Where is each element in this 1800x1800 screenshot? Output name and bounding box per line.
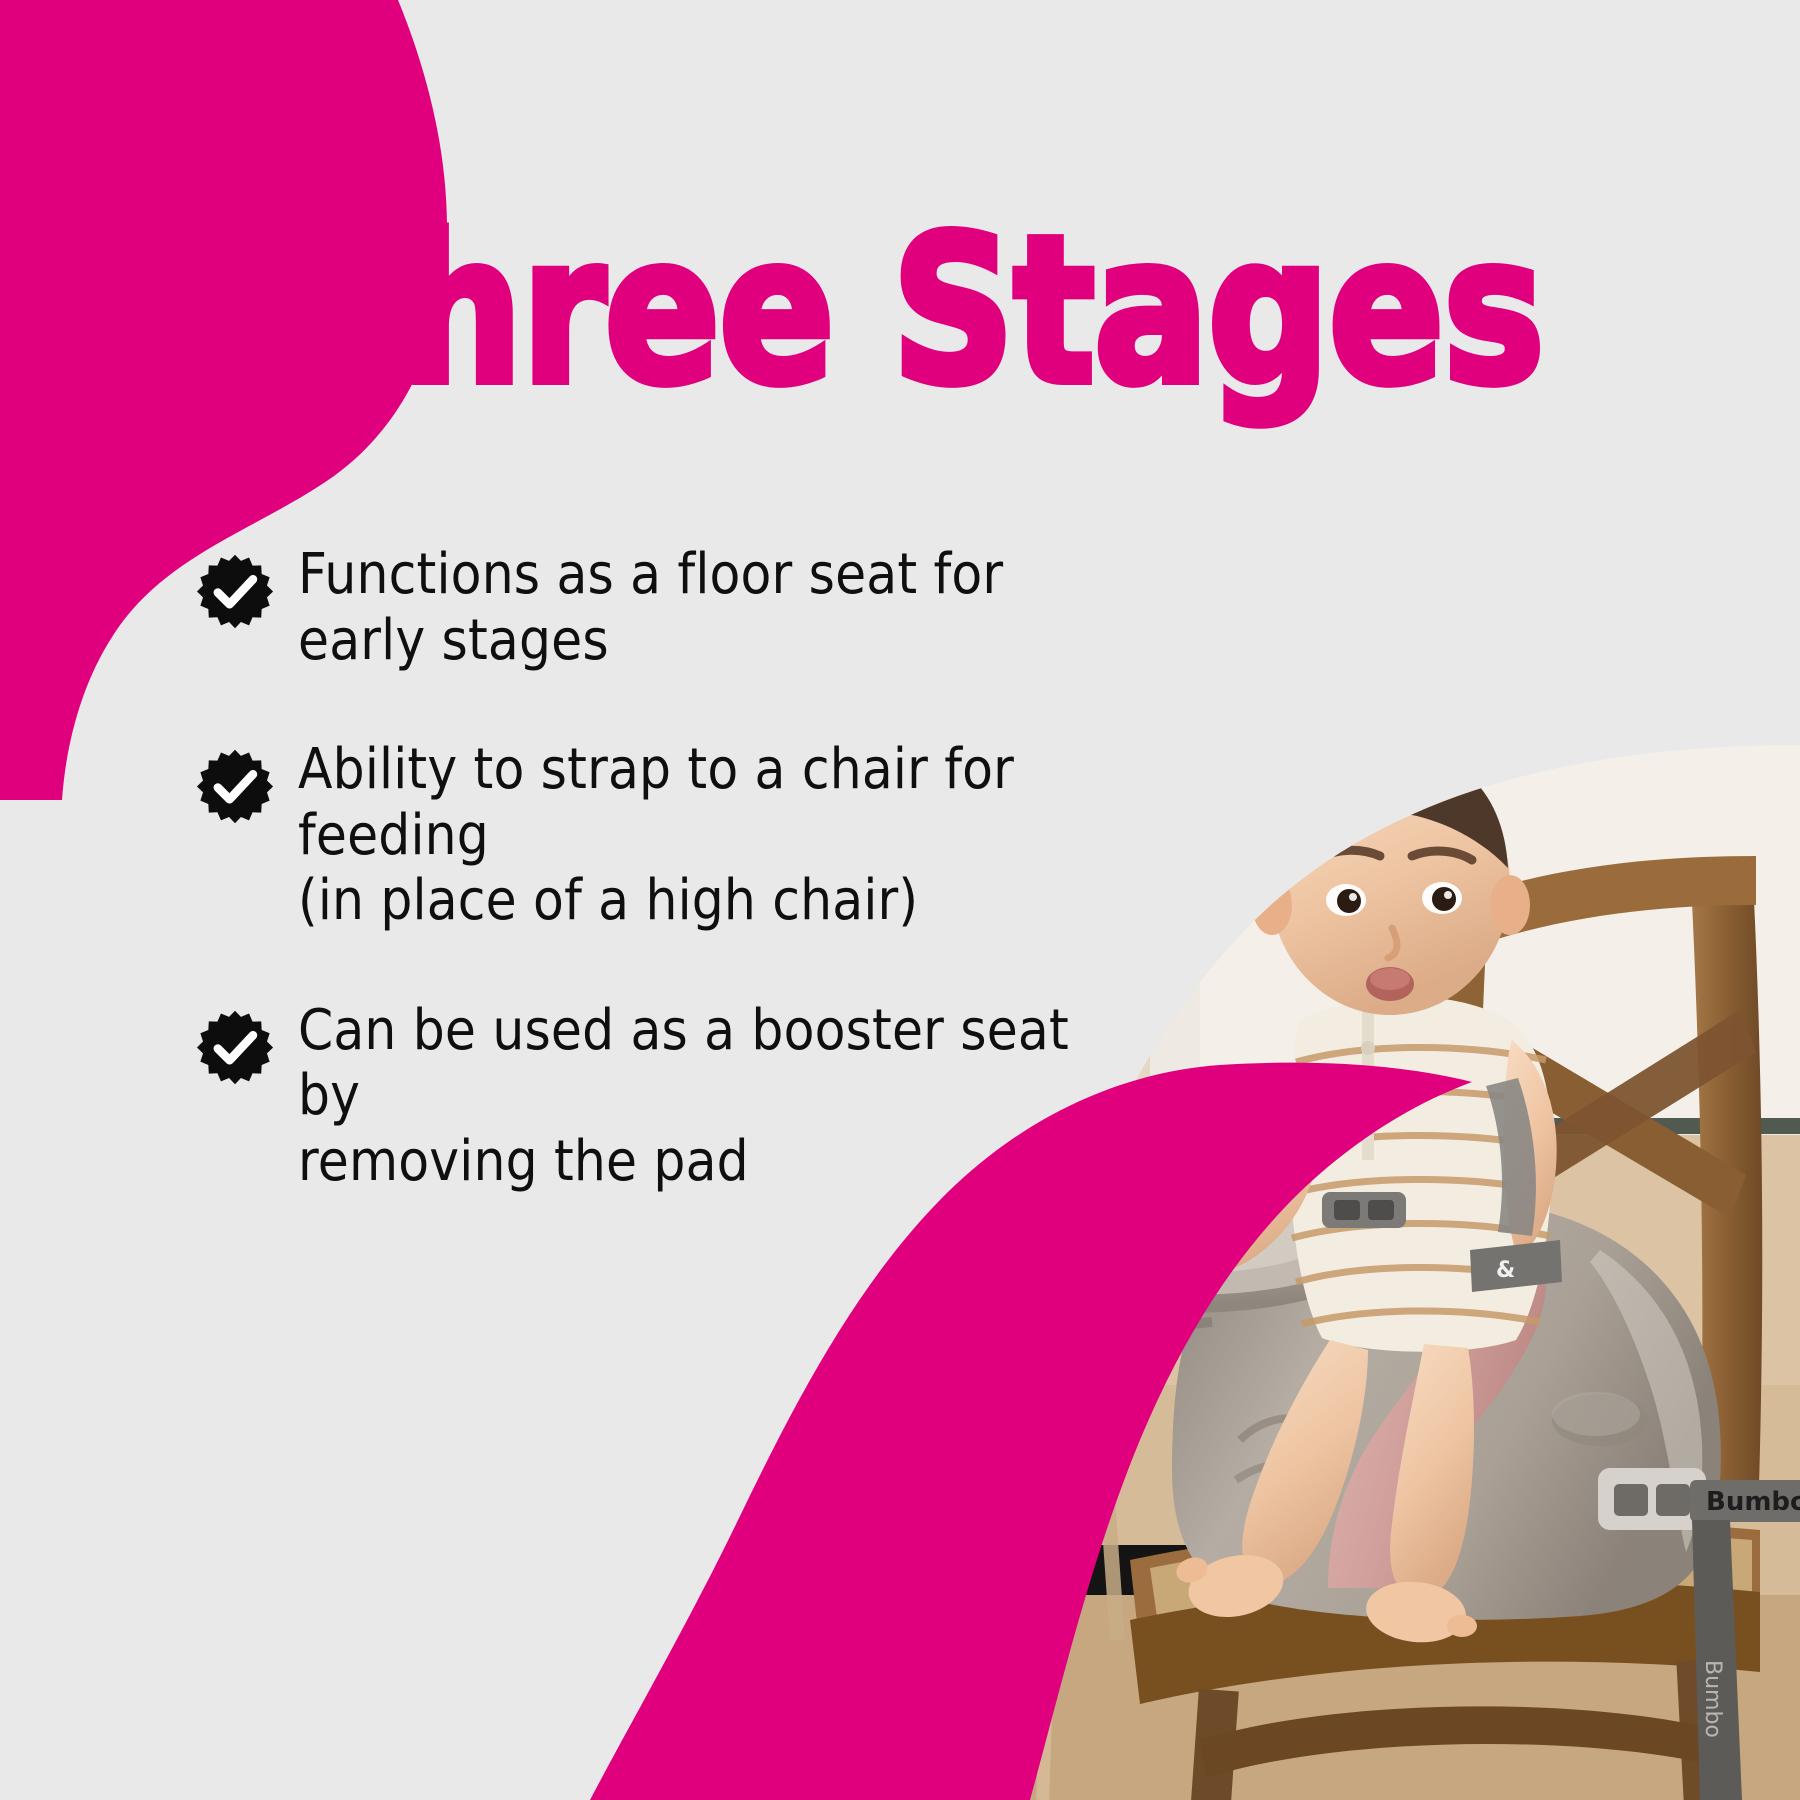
poster-canvas: & Bumbo Bumbo <box>0 0 1800 1800</box>
feature-list: Functions as a floor seat for early stag… <box>196 540 1216 1194</box>
svg-text:&: & <box>1496 1258 1515 1283</box>
list-item: Can be used as a booster seat by removin… <box>196 996 1216 1195</box>
list-item-label: Ability to strap to a chair for feeding … <box>298 735 1124 934</box>
list-item: Ability to strap to a chair for feeding … <box>196 735 1216 934</box>
list-item: Functions as a floor seat for early stag… <box>196 540 1216 673</box>
check-badge-icon <box>196 552 274 630</box>
list-item-label: Can be used as a booster seat by removin… <box>298 996 1124 1195</box>
svg-text:Bumbo: Bumbo <box>1700 1660 1725 1738</box>
check-badge-icon <box>196 1008 274 1086</box>
check-badge-icon <box>196 747 274 825</box>
bumbo-brand-label: Bumbo <box>1706 1487 1800 1517</box>
list-item-label: Functions as a floor seat for early stag… <box>298 540 1124 673</box>
